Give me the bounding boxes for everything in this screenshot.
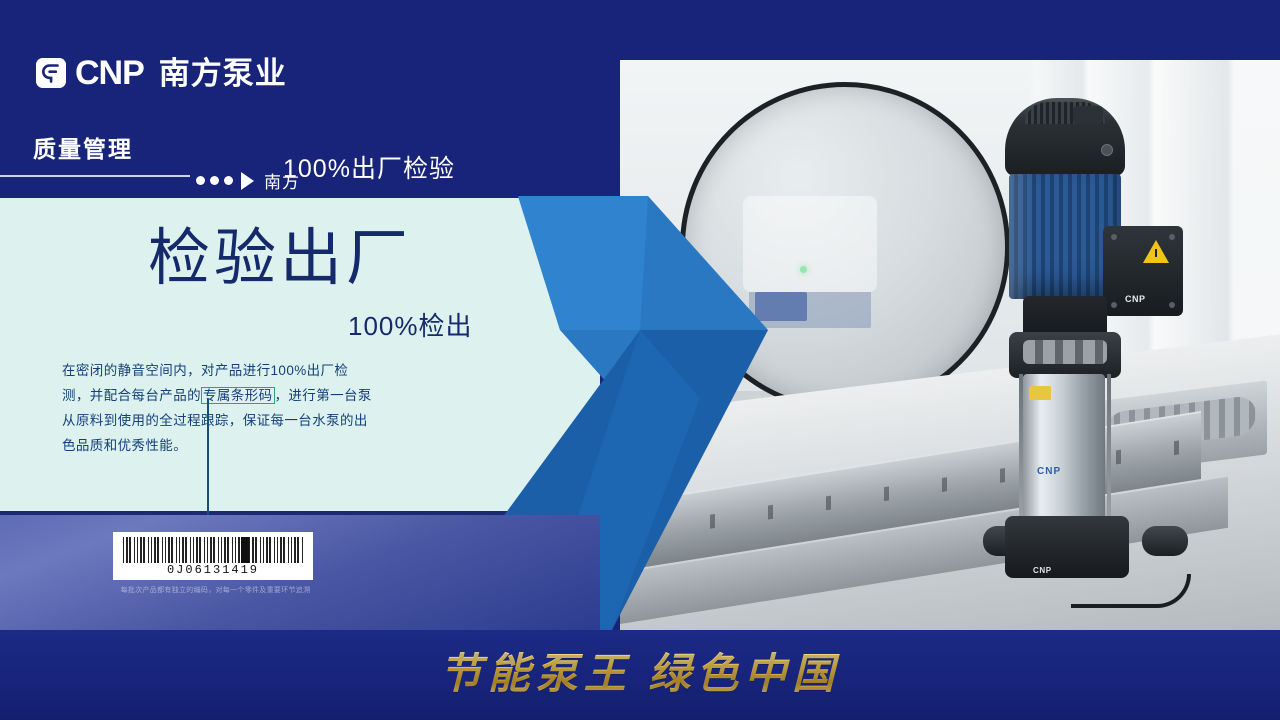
blue-cart [755,292,806,321]
terminal-box-logo: CNP [1125,294,1146,304]
coupling-head [1009,332,1121,378]
brand-name-en: CNP [75,56,144,90]
barcode-number: 0J06131419 [113,563,313,577]
power-cable [1071,574,1191,608]
factory-photo: CNP CNP CNP [620,60,1280,630]
pump-sleeve-logo: CNP [1037,466,1061,477]
cnp-monogram-icon [36,58,66,88]
tie-rod [1107,374,1111,524]
bullet-dot-icon [196,176,205,185]
barcode-bars-icon [123,537,303,563]
body-paragraph: 在密闭的静音空间内，对产品进行100%出厂检测，并配合每台产品的专属条形码，进行… [62,358,372,458]
header-topic: 100%出厂检验 [283,149,455,185]
motor-cap-screw [1101,144,1113,156]
terminal-screw [1111,302,1117,308]
green-indicator-led [800,266,807,273]
play-triangle-icon [241,172,254,190]
barcode-caption: 每批次产品都有独立的编码，对每一个零件及重要环节追溯 [113,585,318,595]
terminal-box: CNP [1103,226,1183,316]
barcode-card: 0J06131419 [113,532,313,580]
brand-logo[interactable]: CNP 南方泵业 [36,56,287,90]
discharge-flange [1142,526,1188,556]
electrical-hazard-icon [1143,240,1169,263]
motor-fan-cover [1005,98,1125,176]
terminal-screw [1111,234,1117,240]
barcode-bars-accent [241,537,249,563]
bullet-dot-icon [224,176,233,185]
brand-name-cn: 南方泵业 [159,58,287,89]
highlighted-term: 专属条形码 [201,387,275,404]
slide-root: CNP CNP CNP [0,0,1280,720]
bullet-dot-icon [210,176,219,185]
motor-lifting-eye [1073,106,1103,124]
header-divider [0,175,190,177]
vertical-multistage-pump: CNP CNP CNP [975,74,1190,614]
callout-leader-line [207,399,209,531]
terminal-screw [1169,234,1175,240]
page-title: 检验出厂 [148,228,412,290]
inspection-chamber-window [680,82,1010,412]
pump-base-logo: CNP [1033,566,1052,575]
terminal-screw [1169,302,1175,308]
pump-warning-label [1029,386,1051,400]
pump-base [1005,516,1129,578]
section-title: 质量管理 [33,130,133,164]
page-subtitle: 100%检出 [348,306,473,343]
footer-slogan: 节能泵王 绿色中国 [0,640,1280,701]
